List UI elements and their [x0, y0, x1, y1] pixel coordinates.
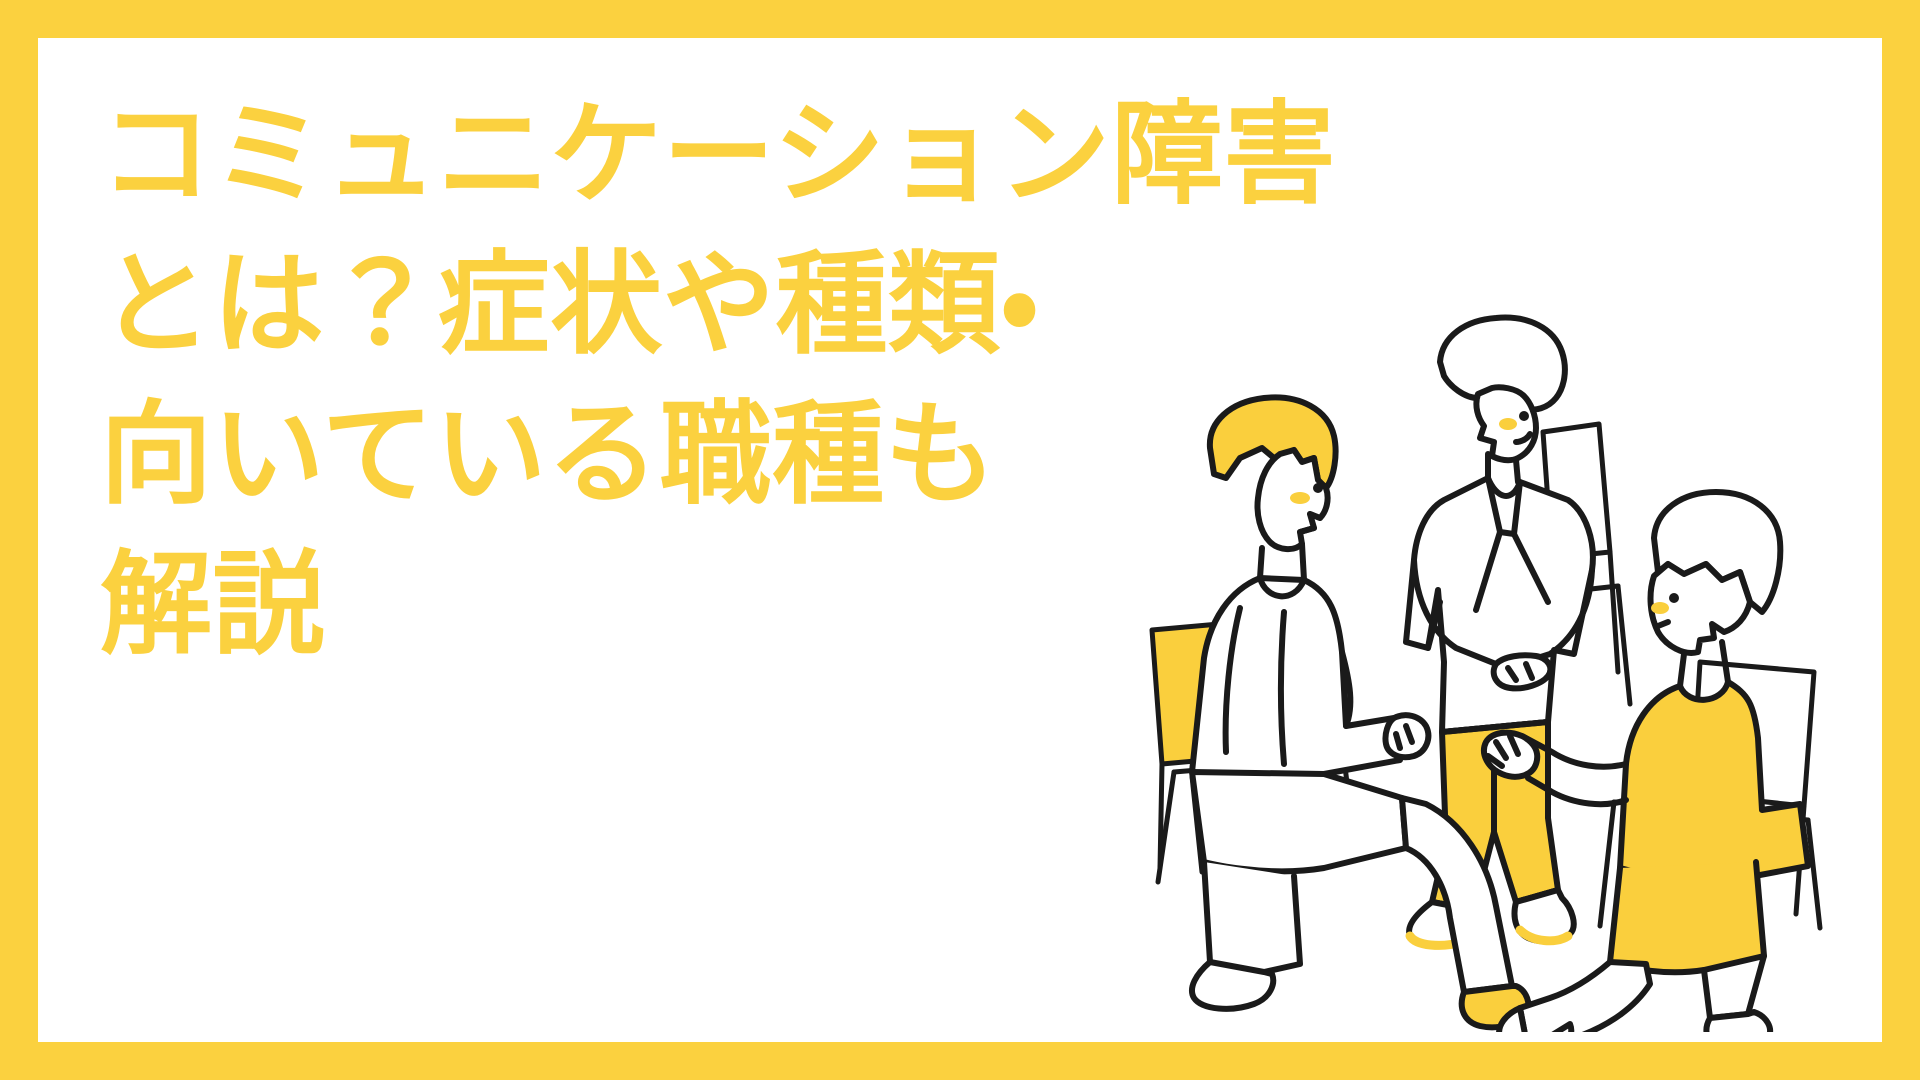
chair-right — [1600, 662, 1820, 932]
seated-person-top — [1406, 318, 1630, 946]
page-title: コミュニケーション障害 とは？症状や種類・ 向いている職種も 解説 — [100, 80, 1310, 680]
chair-top — [1462, 424, 1630, 722]
title-line-3: 向いている職種も — [100, 380, 1310, 530]
white-content-area: コミュニケーション障害 とは？症状や種類・ 向いている職種も 解説 — [38, 38, 1882, 1042]
title-line-1: コミュニケーション障害 — [100, 80, 1310, 230]
banner-canvas: コミュニケーション障害 とは？症状や種類・ 向いている職種も 解説 — [0, 0, 1920, 1080]
title-line-2: とは？症状や種類・ — [100, 230, 1310, 380]
title-line-4: 解説 — [100, 530, 1310, 680]
seated-person-right — [1484, 492, 1820, 1032]
